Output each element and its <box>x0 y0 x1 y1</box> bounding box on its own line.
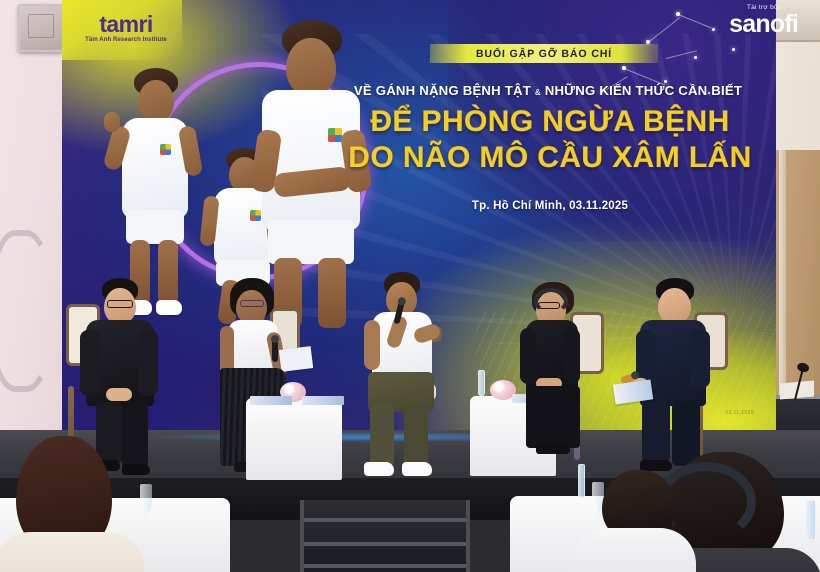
moderator-navy-suit <box>636 278 756 478</box>
water-bottle <box>478 370 485 396</box>
left-arm <box>80 330 100 396</box>
glasses-icon <box>240 300 264 307</box>
right-leg <box>404 404 428 466</box>
institute-tagline: Tâm Anh Research Institute <box>85 37 167 43</box>
headphones-icon <box>534 288 568 314</box>
left-sneaker <box>364 462 394 476</box>
institute-logo: tamri Tâm Anh Research Institute <box>62 2 190 54</box>
headline-line-1: ĐỂ PHÒNG NGỪA BỆNH <box>300 104 776 140</box>
left-wall <box>0 0 62 430</box>
event-subtitle: VỀ GÁNH NẶNG BỆNH TẬT & NHỮNG KIẾN THỨC … <box>318 83 776 98</box>
left-arm <box>364 320 380 370</box>
subtitle-part1: VỀ GÁNH NẶNG BỆNH TẬT <box>354 83 531 98</box>
press-banner-label: BUỔI GẶP GỠ BÁO CHÍ <box>476 48 612 60</box>
audience-member-left <box>4 436 144 572</box>
left-leg <box>370 404 394 466</box>
head <box>236 290 267 324</box>
speaker-center <box>358 272 478 482</box>
name-card <box>302 396 344 405</box>
right-arm <box>138 330 158 396</box>
press-meeting-banner: BUỔI GẶP GỠ BÁO CHÍ <box>430 44 658 63</box>
event-location-date: Tp. Hồ Chí Minh, 03.11.2025 <box>340 200 760 212</box>
skirt <box>526 386 580 448</box>
event-headline: ĐỂ PHÒNG NGỪA BỆNH DO NÃO MÔ CẦU XÂM LẤN <box>300 104 776 176</box>
panelist-black-blazer <box>518 282 628 478</box>
shoulders <box>0 532 144 572</box>
speech-notes <box>279 346 313 372</box>
handheld-microphone-icon <box>272 340 278 362</box>
conference-photo: BUỔI GẶP GỠ BÁO CHÍ VỀ GÁNH NẶNG BỆNH TẬ… <box>0 0 820 572</box>
glasses-icon <box>107 300 133 308</box>
head <box>658 288 691 324</box>
institute-wordmark: tamri <box>99 13 152 35</box>
stage-steps <box>300 500 470 572</box>
shoes <box>536 444 570 454</box>
audience-member-right-white-shirt <box>556 470 686 572</box>
sponsor-wordmark: sanofi <box>729 11 798 37</box>
left-arm <box>520 328 536 384</box>
subtitle-ampersand: & <box>535 88 541 97</box>
shoulders <box>572 528 696 572</box>
subtitle-part2: NHỮNG KIẾN THỨC CẦN BIẾT <box>545 83 742 98</box>
right-arm <box>690 330 710 388</box>
glasses-icon <box>538 302 560 309</box>
hands <box>106 388 132 401</box>
headline-line-2: DO NÃO MÔ CẦU XÂM LẤN <box>300 140 776 176</box>
sponsor-logo: Tài trợ bởi sanofi <box>729 4 798 37</box>
side-table-left <box>246 398 342 480</box>
wall-speaker-icon <box>18 4 64 52</box>
sponsor-prefix-label: Tài trợ bởi <box>729 4 798 11</box>
right-sneaker <box>402 462 432 476</box>
name-card <box>250 396 292 405</box>
right-arm <box>564 328 580 384</box>
